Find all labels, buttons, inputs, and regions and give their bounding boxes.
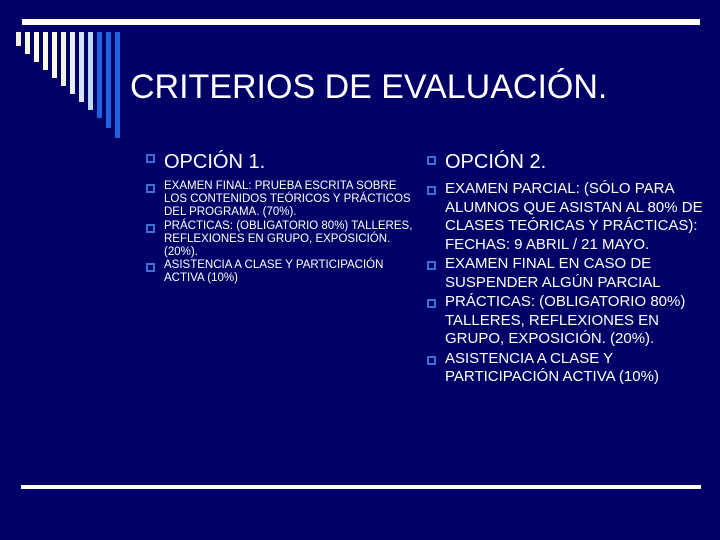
square-bullet-icon	[427, 356, 436, 365]
list-item-label: EXAMEN PARCIAL: (SÓLO PARA ALUMNOS QUE A…	[445, 180, 705, 254]
column-option-2: OPCIÓN 2. EXAMEN PARCIAL: (SÓLO PARA ALU…	[427, 150, 705, 388]
square-bullet-icon	[427, 156, 436, 165]
decorative-bar	[52, 32, 57, 78]
option-2-heading-label: OPCIÓN 2.	[445, 150, 546, 174]
bottom-divider-rule	[21, 485, 701, 489]
decorative-bar	[97, 32, 102, 118]
decorative-bar	[115, 32, 120, 138]
square-bullet-icon	[146, 224, 155, 233]
square-bullet-icon	[146, 263, 155, 272]
decorative-bar	[61, 32, 66, 86]
column-option-1: OPCIÓN 1. EXAMEN FINAL: PRUEBA ESCRITA S…	[146, 150, 414, 286]
decorative-bar	[16, 32, 21, 46]
decorative-gradient-bars	[16, 32, 124, 142]
presentation-slide: CRITERIOS DE EVALUACIÓN. OPCIÓN 1. EXAME…	[0, 0, 720, 540]
decorative-bar	[25, 32, 30, 54]
list-item-label: ASISTENCIA A CLASE Y PARTICIPACIÓN ACTIV…	[164, 259, 414, 285]
list-item-label: EXAMEN FINAL EN CASO DE SUSPENDER ALGÚN …	[445, 255, 705, 292]
square-bullet-icon	[146, 184, 155, 193]
option-1-heading-label: OPCIÓN 1.	[164, 150, 265, 174]
decorative-bar	[79, 32, 84, 102]
list-item-label: PRÁCTICAS: (OBLIGATORIO 80%) TALLERES, R…	[164, 220, 414, 260]
square-bullet-icon	[427, 299, 436, 308]
decorative-bar	[88, 32, 93, 110]
list-item-label: EXAMEN FINAL: PRUEBA ESCRITA SOBRE LOS C…	[164, 180, 414, 220]
list-item: ASISTENCIA A CLASE Y PARTICIPACIÓN ACTIV…	[427, 350, 705, 387]
list-item: ASISTENCIA A CLASE Y PARTICIPACIÓN ACTIV…	[146, 259, 414, 285]
list-item: PRÁCTICAS: (OBLIGATORIO 80%) TALLERES, R…	[146, 220, 414, 260]
list-item: EXAMEN FINAL: PRUEBA ESCRITA SOBRE LOS C…	[146, 180, 414, 220]
option-1-heading: OPCIÓN 1.	[146, 150, 414, 174]
square-bullet-icon	[146, 154, 155, 163]
decorative-bar	[43, 32, 48, 70]
list-item: EXAMEN PARCIAL: (SÓLO PARA ALUMNOS QUE A…	[427, 180, 705, 254]
list-item: EXAMEN FINAL EN CASO DE SUSPENDER ALGÚN …	[427, 255, 705, 292]
decorative-bar	[34, 32, 39, 62]
square-bullet-icon	[427, 261, 436, 270]
square-bullet-icon	[427, 186, 436, 195]
list-item-label: PRÁCTICAS: (OBLIGATORIO 80%) TALLERES, R…	[445, 293, 705, 349]
list-item-label: ASISTENCIA A CLASE Y PARTICIPACIÓN ACTIV…	[445, 350, 705, 387]
list-item: PRÁCTICAS: (OBLIGATORIO 80%) TALLERES, R…	[427, 293, 705, 349]
decorative-bar	[106, 32, 111, 128]
slide-title: CRITERIOS DE EVALUACIÓN.	[130, 66, 710, 108]
decorative-bar	[70, 32, 75, 94]
option-2-heading: OPCIÓN 2.	[427, 150, 705, 174]
top-divider-rule	[22, 19, 700, 25]
